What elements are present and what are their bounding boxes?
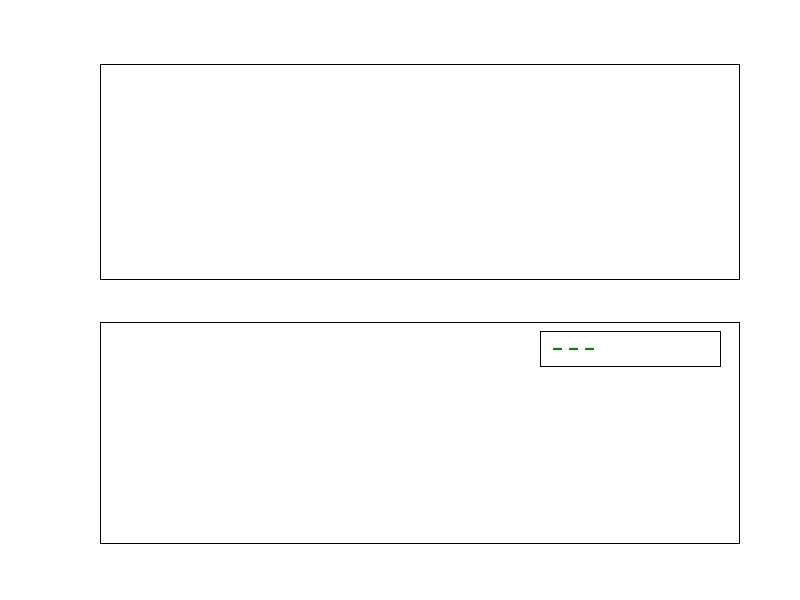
figure-canvas — [0, 0, 800, 600]
legend[interactable] — [540, 331, 721, 367]
differential-histogram-axes — [100, 64, 740, 280]
differential-histogram-plot — [101, 65, 741, 281]
mag-limit-line-icon — [551, 342, 597, 356]
